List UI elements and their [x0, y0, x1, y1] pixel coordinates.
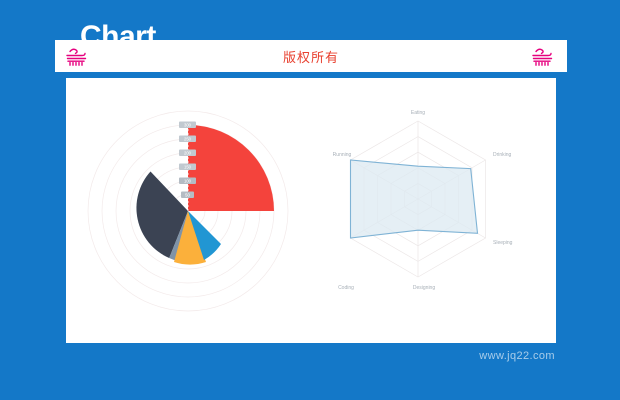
radial-tick-100: 100 — [179, 178, 196, 185]
svg-text:150: 150 — [184, 165, 192, 170]
radial-tick-200: 200 — [179, 150, 196, 157]
radial-tick-150: 150 — [179, 164, 196, 171]
radar-series-allocated-budget[interactable] — [351, 160, 478, 238]
copyright-text: 版权所有 — [55, 40, 567, 72]
chart-card: 300 250 200 150 100 — [66, 78, 556, 343]
rose-chart: 300 250 200 150 100 — [76, 86, 306, 336]
radar-chart: Eating Drinking Sleeping Designing Codin… — [306, 86, 551, 336]
watermark: www.jq22.com — [479, 350, 555, 362]
radar-label-drinking: Drinking — [493, 152, 512, 158]
radial-tick-250: 250 — [179, 136, 196, 143]
radar-label-sleeping: Sleeping — [493, 240, 513, 246]
svg-text:200: 200 — [184, 151, 192, 156]
wind-icon — [525, 44, 559, 68]
radial-tick-300: 300 — [179, 122, 196, 129]
radar-label-running: Running — [333, 152, 352, 158]
svg-text:250: 250 — [184, 137, 192, 142]
svg-text:50: 50 — [185, 193, 190, 198]
radar-label-designing: Designing — [413, 285, 435, 291]
svg-text:100: 100 — [184, 179, 192, 184]
radial-tick-50: 50 — [181, 192, 194, 199]
radar-label-coding: Coding — [338, 285, 354, 291]
rose-slice[interactable] — [188, 125, 274, 211]
app-window: Chart 版权所有 — [0, 0, 620, 400]
svg-text:300: 300 — [184, 123, 192, 128]
copyright-ribbon: 版权所有 — [55, 40, 567, 72]
radar-label-eating: Eating — [411, 110, 425, 116]
